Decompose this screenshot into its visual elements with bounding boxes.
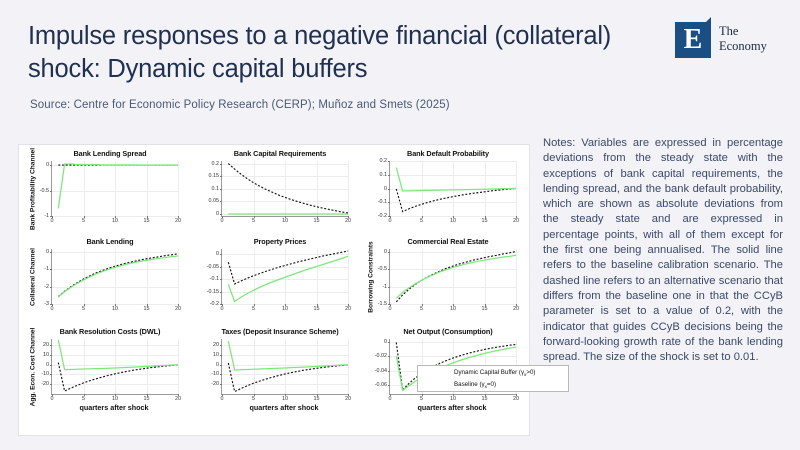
x-tick-mark — [453, 216, 454, 218]
x-tick-label: 20 — [345, 306, 351, 312]
x-tick-mark — [147, 394, 148, 396]
x-tick-label: 15 — [314, 306, 320, 312]
series-line-baseline — [396, 255, 516, 298]
x-tick-mark — [390, 304, 391, 306]
x-tick-label: 20 — [175, 306, 181, 312]
x-tick-label: 5 — [252, 396, 255, 402]
x-tick-label: 5 — [420, 396, 423, 402]
series-layer — [390, 249, 516, 304]
x-tick-mark — [84, 304, 85, 306]
x-tick-label: 5 — [420, 218, 423, 224]
series-layer — [52, 249, 178, 304]
x-tick-label: 15 — [482, 306, 488, 312]
x-tick-mark — [222, 394, 223, 396]
logo-mark-icon: E — [675, 22, 711, 58]
series-line-baseline — [228, 256, 348, 301]
x-tick-label: 10 — [112, 218, 118, 224]
y-tick-label: -0.04 — [375, 368, 387, 374]
series-layer — [222, 161, 348, 216]
chart-panel-4: Bank Lending0-1-2-305101520Collateral Ch… — [25, 237, 195, 330]
series-layer — [222, 339, 348, 394]
x-tick-mark — [84, 394, 85, 396]
x-axis-label: quarters after shock — [389, 403, 515, 412]
gridline-vertical — [178, 161, 179, 216]
x-tick-mark — [222, 216, 223, 218]
x-tick-label: 20 — [513, 218, 519, 224]
series-line-dynamic — [228, 251, 348, 284]
x-tick-label: 15 — [314, 396, 320, 402]
x-tick-mark — [147, 216, 148, 218]
gridline-vertical — [178, 339, 179, 394]
x-tick-label: 15 — [144, 218, 150, 224]
x-tick-label: 5 — [420, 306, 423, 312]
x-tick-mark — [222, 304, 223, 306]
y-tick-label: 0 — [46, 249, 49, 255]
y-tick-label: -0.2 — [210, 301, 219, 307]
series-line-dynamic — [396, 251, 516, 301]
x-tick-mark — [348, 216, 349, 218]
series-line-dynamic — [396, 188, 516, 211]
page-title: Impulse responses to a negative financia… — [28, 20, 688, 86]
plot-area: 0-0.05-0.1-0.15-0.205101520 — [221, 249, 348, 305]
panel-title: Commercial Real Estate — [363, 237, 533, 246]
y-tick-label: 0 — [216, 251, 219, 257]
plot-area: 0.20.150.10.05005101520 — [221, 161, 348, 217]
panel-title: Property Prices — [195, 237, 365, 246]
x-axis-label: quarters after shock — [51, 403, 177, 412]
x-tick-mark — [115, 216, 116, 218]
x-tick-label: 20 — [513, 396, 519, 402]
x-tick-mark — [390, 394, 391, 396]
x-tick-label: 20 — [345, 396, 351, 402]
y-tick-label: -2 — [44, 284, 49, 290]
x-tick-label: 10 — [282, 396, 288, 402]
y-tick-label: 20 — [213, 342, 219, 348]
x-tick-mark — [485, 304, 486, 306]
y-tick-label: -1 — [382, 284, 387, 290]
plot-area: 0-1-2-305101520 — [51, 249, 178, 305]
y-tick-label: -20 — [211, 381, 219, 387]
series-line-dynamic — [58, 254, 178, 297]
y-axis-label: Bank Profitability Channel — [30, 147, 37, 229]
x-tick-mark — [422, 394, 423, 396]
x-tick-label: 5 — [82, 396, 85, 402]
y-axis-label: Collateral Channel — [30, 248, 37, 306]
x-tick-label: 0 — [221, 306, 224, 312]
x-tick-mark — [317, 394, 318, 396]
notes-panel: Notes: Variables are expressed in percen… — [543, 136, 783, 365]
x-tick-mark — [317, 216, 318, 218]
x-tick-mark — [178, 394, 179, 396]
plot-area: 20100-10-2005101520 — [221, 339, 348, 395]
panel-title: Bank Lending Spread — [25, 149, 195, 158]
x-tick-mark — [254, 394, 255, 396]
x-axis-label: quarters after shock — [221, 403, 347, 412]
x-tick-label: 10 — [450, 218, 456, 224]
chart-panel-6: Commercial Real Estate0-0.5-1-1.50510152… — [363, 237, 533, 330]
gridline-vertical — [178, 249, 179, 304]
x-tick-mark — [254, 216, 255, 218]
y-tick-label: -0.1 — [210, 276, 219, 282]
x-tick-mark — [285, 304, 286, 306]
logo-word-economy: Economy — [719, 39, 781, 54]
panel-title: Net Output (Consumption) — [363, 327, 533, 336]
y-tick-label: -10 — [41, 371, 49, 377]
x-tick-mark — [422, 216, 423, 218]
chart-panel-5: Property Prices0-0.05-0.1-0.15-0.2051015… — [195, 237, 365, 330]
x-tick-label: 10 — [112, 306, 118, 312]
y-tick-label: 0.15 — [209, 173, 220, 179]
x-tick-label: 15 — [482, 396, 488, 402]
y-tick-label: 10 — [213, 352, 219, 358]
series-line-baseline — [58, 164, 178, 208]
y-axis-label: Agg. Econ. Cost Channel — [30, 327, 37, 406]
x-tick-mark — [254, 304, 255, 306]
y-tick-label: -1 — [44, 213, 49, 219]
y-tick-label: -1 — [44, 266, 49, 272]
x-tick-label: 15 — [314, 218, 320, 224]
panel-title: Bank Capital Requirements — [195, 149, 365, 158]
legend-label-baseline: Baseline (γx=0) — [454, 379, 496, 392]
x-tick-mark — [52, 394, 53, 396]
chart-legend: Dynamic Capital Buffer (γx>0) Baseline (… — [417, 365, 569, 392]
x-tick-mark — [285, 216, 286, 218]
x-tick-label: 15 — [144, 306, 150, 312]
series-line-dynamic — [58, 363, 178, 391]
y-tick-label: 0.1 — [212, 186, 220, 192]
series-line-baseline — [396, 168, 516, 191]
series-layer — [222, 249, 348, 304]
x-tick-mark — [516, 304, 517, 306]
x-tick-mark — [52, 216, 53, 218]
logo-word-the: The — [719, 24, 781, 39]
legend-row-baseline: Baseline (γx=0) — [418, 379, 568, 390]
y-tick-label: -3 — [44, 301, 49, 307]
x-tick-mark — [485, 216, 486, 218]
series-line-dynamic — [228, 164, 348, 213]
series-line-baseline — [58, 256, 178, 297]
chart-panel-8: Taxes (Deposit Insurance Scheme)20100-10… — [195, 327, 365, 420]
chart-panel-3: Bank Default Probability0.20.10-0.1-0.20… — [363, 149, 533, 242]
panel-title: Bank Resolution Costs (DWL) — [25, 327, 195, 336]
plot-area: 0-0.5-1-1.505101520 — [389, 249, 516, 305]
x-tick-label: 5 — [252, 218, 255, 224]
y-tick-label: 0.2 — [212, 161, 220, 167]
x-tick-label: 10 — [450, 396, 456, 402]
panel-title: Bank Lending — [25, 237, 195, 246]
source-line: Source: Centre for Economic Policy Resea… — [30, 99, 450, 111]
slide-header: Impulse responses to a negative financia… — [0, 0, 800, 130]
gridline-vertical — [516, 161, 517, 216]
x-tick-mark — [422, 304, 423, 306]
x-tick-label: 0 — [51, 306, 54, 312]
x-tick-mark — [84, 216, 85, 218]
y-tick-label: -0.05 — [207, 264, 219, 270]
series-layer — [52, 339, 178, 394]
y-tick-label: -0.2 — [378, 213, 387, 219]
x-tick-label: 0 — [221, 218, 224, 224]
logo-wordmark: The Economy — [719, 24, 781, 53]
x-tick-mark — [52, 304, 53, 306]
x-tick-mark — [348, 304, 349, 306]
x-tick-label: 0 — [221, 396, 224, 402]
x-tick-mark — [115, 394, 116, 396]
x-tick-mark — [516, 216, 517, 218]
x-tick-mark — [453, 304, 454, 306]
x-tick-mark — [285, 394, 286, 396]
y-tick-label: 0 — [384, 186, 387, 192]
x-tick-mark — [485, 394, 486, 396]
gridline-vertical — [348, 161, 349, 216]
x-tick-label: 0 — [51, 396, 54, 402]
x-tick-mark — [317, 304, 318, 306]
x-tick-label: 10 — [450, 306, 456, 312]
x-tick-mark — [147, 304, 148, 306]
plot-area: 20100-10-2005101520 — [51, 339, 178, 395]
y-tick-label: 0 — [216, 211, 219, 217]
chart-panel-7: Bank Resolution Costs (DWL)20100-10-2005… — [25, 327, 195, 420]
x-tick-mark — [516, 394, 517, 396]
x-tick-mark — [390, 216, 391, 218]
series-layer — [52, 161, 178, 216]
x-tick-mark — [453, 394, 454, 396]
plot-area: 0.20.10-0.1-0.205101520 — [389, 161, 516, 217]
x-tick-label: 5 — [82, 218, 85, 224]
series-line-baseline — [228, 341, 348, 370]
x-tick-label: 20 — [513, 306, 519, 312]
y-tick-label: 0 — [384, 339, 387, 345]
x-tick-mark — [115, 304, 116, 306]
y-tick-label: -0.02 — [375, 353, 387, 359]
y-tick-label: -20 — [41, 381, 49, 387]
x-tick-label: 10 — [282, 306, 288, 312]
panel-title: Taxes (Deposit Insurance Scheme) — [195, 327, 365, 336]
y-tick-label: 0.05 — [209, 198, 220, 204]
x-tick-label: 20 — [345, 218, 351, 224]
x-tick-label: 0 — [389, 218, 392, 224]
the-economy-logo: E The Economy — [675, 22, 783, 60]
x-tick-label: 0 — [389, 396, 392, 402]
x-tick-label: 15 — [482, 218, 488, 224]
x-tick-mark — [348, 394, 349, 396]
series-layer — [390, 161, 516, 216]
gridline-vertical — [348, 249, 349, 304]
panel-title: Bank Default Probability — [363, 149, 533, 158]
x-tick-label: 10 — [112, 396, 118, 402]
x-tick-label: 0 — [389, 306, 392, 312]
y-tick-label: -0.5 — [40, 188, 49, 194]
x-tick-label: 5 — [252, 306, 255, 312]
y-tick-label: 0 — [46, 162, 49, 168]
x-tick-mark — [178, 216, 179, 218]
legend-row-dynamic: Dynamic Capital Buffer (γx>0) — [418, 367, 568, 378]
y-tick-label: -0.5 — [378, 266, 387, 272]
chart-panel-2: Bank Capital Requirements0.20.150.10.050… — [195, 149, 365, 242]
y-tick-label: 10 — [43, 352, 49, 358]
x-tick-label: 20 — [175, 396, 181, 402]
gridline-vertical — [348, 339, 349, 394]
y-tick-label: -10 — [211, 371, 219, 377]
y-tick-label: -0.06 — [375, 382, 387, 388]
x-tick-label: 20 — [175, 218, 181, 224]
y-tick-label: 0 — [216, 362, 219, 368]
y-tick-label: 0 — [46, 362, 49, 368]
x-tick-label: 0 — [51, 218, 54, 224]
y-tick-label: 0.1 — [380, 172, 388, 178]
y-axis-label: Borrowing Constraints — [368, 241, 375, 312]
y-tick-label: 0 — [384, 249, 387, 255]
x-tick-label: 15 — [144, 396, 150, 402]
x-tick-mark — [178, 304, 179, 306]
x-tick-label: 10 — [282, 218, 288, 224]
y-tick-label: -1.5 — [378, 301, 387, 307]
impulse-response-figure: Bank Lending Spread0-0.5-105101520Bank P… — [18, 144, 530, 436]
y-tick-label: -0.15 — [207, 289, 219, 295]
chart-panel-1: Bank Lending Spread0-0.5-105101520Bank P… — [25, 149, 195, 242]
plot-area: 0-0.5-105101520 — [51, 161, 178, 217]
y-tick-label: -0.1 — [378, 199, 387, 205]
y-tick-label: 20 — [43, 342, 49, 348]
x-tick-label: 5 — [82, 306, 85, 312]
series-line-baseline — [58, 340, 178, 370]
y-tick-label: 0.2 — [380, 158, 388, 164]
gridline-vertical — [516, 249, 517, 304]
